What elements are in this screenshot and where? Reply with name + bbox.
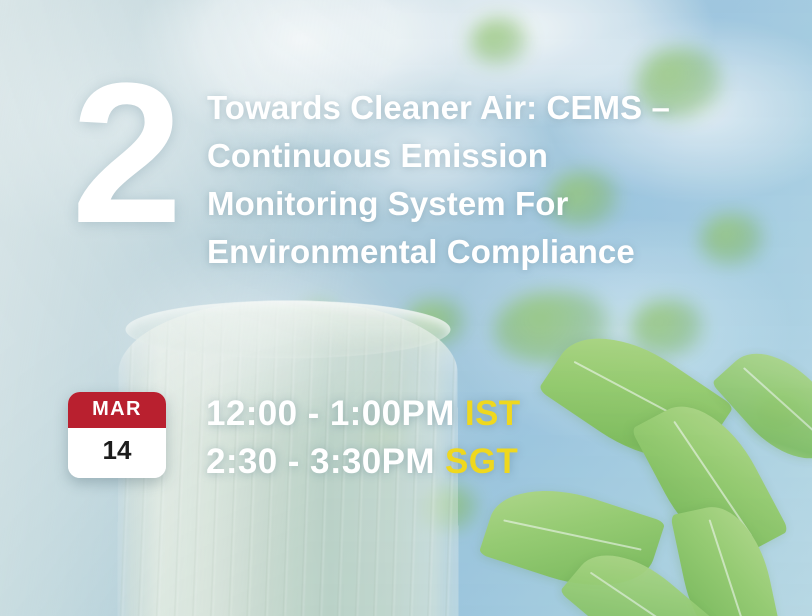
title-line-3: Monitoring System For [207,180,787,228]
calendar-month-label: MAR [68,392,166,428]
schedule-timezone-1: IST [465,394,521,433]
session-schedule: 12:00 - 1:00PM IST 2:30 - 3:30PM SGT [206,390,521,486]
title-line-4: Environmental Compliance [207,228,787,276]
schedule-row-1: 12:00 - 1:00PM IST [206,390,521,438]
schedule-row-2: 2:30 - 3:30PM SGT [206,438,521,486]
session-number: 2 [60,54,190,254]
schedule-timezone-2: SGT [445,442,518,481]
calendar-day-number: 14 [68,428,166,478]
webinar-session-banner: 2 Towards Cleaner Air: CEMS – Continuous… [0,0,812,616]
calendar-date-badge: MAR 14 [68,392,166,478]
session-title: Towards Cleaner Air: CEMS – Continuous E… [207,84,787,276]
banner-content: 2 Towards Cleaner Air: CEMS – Continuous… [0,0,812,616]
title-line-1: Towards Cleaner Air: CEMS – [207,84,787,132]
schedule-time-1: 12:00 - 1:00PM [206,394,455,433]
schedule-time-2: 2:30 - 3:30PM [206,442,435,481]
title-line-2: Continuous Emission [207,132,787,180]
